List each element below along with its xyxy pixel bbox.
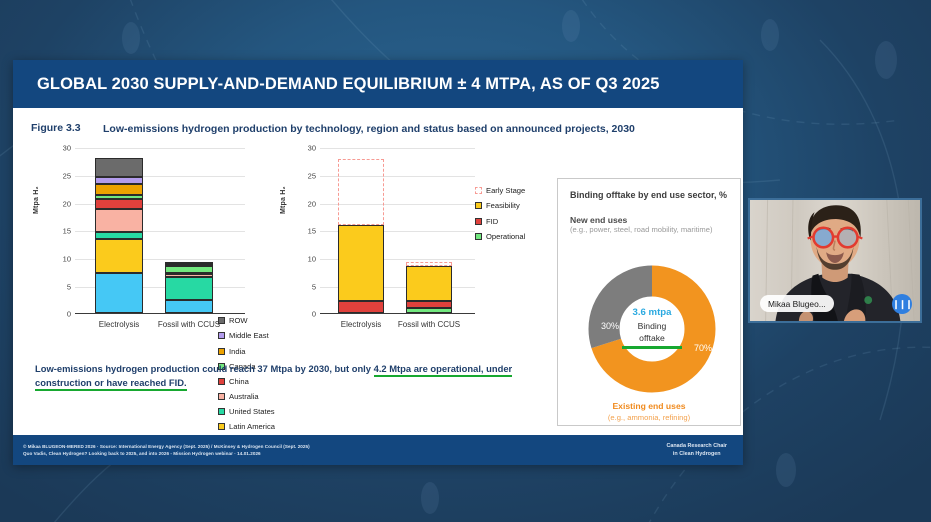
legend-item-fid: FID bbox=[475, 217, 525, 226]
legend-item-united-states: United States bbox=[218, 407, 275, 416]
legend-swatch bbox=[475, 233, 482, 240]
category-label: Electrolysis bbox=[99, 320, 139, 329]
y-tick-label: 5 bbox=[298, 282, 316, 291]
legend-item-operational: Operational bbox=[475, 232, 525, 241]
bar-segment-united-states bbox=[165, 277, 213, 300]
audio-bars-glyph: ❙❙❙ bbox=[892, 299, 912, 310]
binding-offtake-panel: Binding offtake by end use sector, % New… bbox=[557, 178, 741, 426]
chart1-plot-area bbox=[75, 148, 245, 314]
y-tick-label: 0 bbox=[53, 310, 71, 319]
legend-item-middle-east: Middle East bbox=[218, 331, 275, 340]
bar-segment-row bbox=[95, 158, 143, 176]
legend-swatch bbox=[218, 317, 225, 324]
bar-segment-early-stage bbox=[406, 262, 452, 266]
donut-panel-title: Binding offtake by end use sector, % bbox=[570, 189, 728, 201]
footer-right-logo: Canada Research Chair in Clean Hydrogen bbox=[666, 442, 733, 458]
y-tick-label: 25 bbox=[53, 171, 71, 180]
y-tick-label: 15 bbox=[53, 227, 71, 236]
footer-left: © Mikaa BLUGEON-MERED 2026 · Source: Int… bbox=[23, 443, 310, 457]
y-tick-label: 30 bbox=[298, 144, 316, 153]
bar-fossil-with-ccus bbox=[406, 147, 452, 313]
slide-footer: © Mikaa BLUGEON-MERED 2026 · Source: Int… bbox=[13, 435, 743, 465]
y-tick-label: 20 bbox=[298, 199, 316, 208]
new-end-uses-subtitle: (e.g., power, steel, road mobility, mari… bbox=[570, 225, 728, 235]
bar-electrolysis bbox=[338, 147, 384, 313]
y-tick-label: 10 bbox=[53, 254, 71, 263]
bar-segment-row bbox=[165, 262, 213, 264]
legend-label: Feasibility bbox=[486, 201, 520, 210]
legend-swatch bbox=[218, 423, 225, 430]
bar-segment-canada bbox=[95, 195, 143, 199]
existing-end-uses-title: Existing end uses bbox=[558, 401, 740, 411]
footer-line-2: Quo Vadis, Clean Hydrogen? Looking back … bbox=[23, 450, 310, 457]
legend-swatch bbox=[475, 202, 482, 209]
bar-segment-fid bbox=[338, 301, 384, 313]
slide-header: GLOBAL 2030 SUPPLY-AND-DEMAND EQUILIBRIU… bbox=[13, 60, 743, 108]
chart1-y-ticks: 051015202530 bbox=[49, 144, 71, 314]
bar-segment-operational bbox=[406, 308, 452, 313]
bar-segment-feasibility bbox=[406, 266, 452, 301]
legend-swatch bbox=[475, 187, 482, 194]
legend-swatch bbox=[218, 393, 225, 400]
chart2-legend: Early StageFeasibilityFIDOperational bbox=[475, 186, 525, 247]
bar-segment-australia bbox=[165, 274, 213, 276]
conclusion-plain: Low-emissions hydrogen production could … bbox=[35, 363, 374, 374]
y-tick-label: 15 bbox=[298, 227, 316, 236]
bar-segment-middle-east bbox=[95, 177, 143, 184]
legend-label: Latin America bbox=[229, 422, 275, 431]
legend-label: Middle East bbox=[229, 331, 269, 340]
footer-line-1: © Mikaa BLUGEON-MERED 2026 · Source: Int… bbox=[23, 443, 310, 450]
donut-center-underline bbox=[622, 346, 682, 349]
y-tick-label: 5 bbox=[53, 282, 71, 291]
conclusion-text: Low-emissions hydrogen production could … bbox=[35, 362, 535, 390]
bar-segment-early-stage bbox=[338, 159, 384, 224]
bar-segment-australia bbox=[95, 209, 143, 232]
legend-swatch bbox=[218, 408, 225, 415]
legend-item-australia: Australia bbox=[218, 392, 275, 401]
donut-center-label-2: offtake bbox=[588, 333, 716, 343]
new-end-uses-title: New end uses bbox=[570, 215, 728, 225]
legend-item-latin-america: Latin America bbox=[218, 422, 275, 431]
y-tick-label: 10 bbox=[298, 254, 316, 263]
footer-right-line-2: in Clean Hydrogen bbox=[666, 450, 727, 458]
y-tick-label: 30 bbox=[53, 144, 71, 153]
bar-fossil-with-ccus bbox=[165, 147, 213, 313]
donut-center-value: 3.6 mtpa bbox=[588, 307, 716, 318]
bar-segment-europe bbox=[95, 273, 143, 313]
slide-title: GLOBAL 2030 SUPPLY-AND-DEMAND EQUILIBRIU… bbox=[13, 75, 660, 94]
audio-level-icon[interactable]: ❙❙❙ bbox=[892, 294, 912, 314]
legend-label: Operational bbox=[486, 232, 525, 241]
legend-label: India bbox=[229, 347, 245, 356]
donut-label-existing: 70% bbox=[694, 343, 712, 353]
legend-item-feasibility: Feasibility bbox=[475, 201, 525, 210]
legend-label: ROW bbox=[229, 316, 248, 325]
legend-swatch bbox=[218, 348, 225, 355]
existing-end-uses-subtitle: (e.g., ammonia, refining) bbox=[558, 413, 740, 422]
legend-label: FID bbox=[486, 217, 498, 226]
legend-item-row: ROW bbox=[218, 316, 275, 325]
legend-label: Early Stage bbox=[486, 186, 525, 195]
legend-label: Australia bbox=[229, 392, 259, 401]
chart2-plot-area bbox=[320, 148, 475, 314]
legend-item-early-stage: Early Stage bbox=[475, 186, 525, 195]
bar-segment-fid bbox=[406, 301, 452, 308]
bar-segment-europe bbox=[165, 300, 213, 313]
chart2-y-ticks: 051015202530 bbox=[294, 144, 316, 314]
footer-right-line-1: Canada Research Chair bbox=[666, 442, 727, 450]
legend-label: United States bbox=[229, 407, 275, 416]
category-label: Fossil with CCUS bbox=[158, 320, 220, 329]
participant-video-tile[interactable]: Mikaa Blugeo... ❙❙❙ bbox=[748, 198, 922, 323]
bar-segment-canada bbox=[165, 266, 213, 274]
bar-segment-china bbox=[95, 199, 143, 209]
figure-caption: Figure 3.3 Low-emissions hydrogen produc… bbox=[13, 108, 743, 136]
bar-electrolysis bbox=[95, 147, 143, 313]
y-tick-label: 20 bbox=[53, 199, 71, 208]
chart-by-region: Mtpa H₂ 051015202530 ElectrolysisFossil … bbox=[31, 144, 251, 344]
participant-name-label: Mikaa Blugeo... bbox=[760, 295, 834, 312]
shared-slide: GLOBAL 2030 SUPPLY-AND-DEMAND EQUILIBRIU… bbox=[13, 60, 743, 465]
legend-swatch bbox=[475, 218, 482, 225]
figure-number: Figure 3.3 bbox=[31, 122, 103, 136]
bar-segment-feasibility bbox=[338, 225, 384, 301]
bar-segment-india bbox=[95, 184, 143, 195]
category-label: Electrolysis bbox=[341, 320, 381, 329]
legend-swatch bbox=[218, 332, 225, 339]
slide-body: Figure 3.3 Low-emissions hydrogen produc… bbox=[13, 108, 743, 435]
chart-by-status: Mtpa H₂ 051015202530 ElectrolysisFossil … bbox=[278, 144, 478, 344]
bar-segment-united-states bbox=[95, 232, 143, 239]
bar-segment-latin-america bbox=[95, 239, 143, 273]
figure-title: Low-emissions hydrogen production by tec… bbox=[103, 122, 635, 136]
donut-center-label-1: Binding bbox=[588, 321, 716, 331]
y-tick-label: 0 bbox=[298, 310, 316, 319]
category-label: Fossil with CCUS bbox=[398, 320, 460, 329]
legend-item-india: India bbox=[218, 347, 275, 356]
chart2-y-axis-label: Mtpa H₂ bbox=[280, 152, 287, 214]
y-tick-label: 25 bbox=[298, 171, 316, 180]
donut-chart: 30% 70% 3.6 mtpa Binding offtake bbox=[588, 265, 716, 393]
chart1-y-axis-label: Mtpa H₂ bbox=[33, 152, 40, 214]
